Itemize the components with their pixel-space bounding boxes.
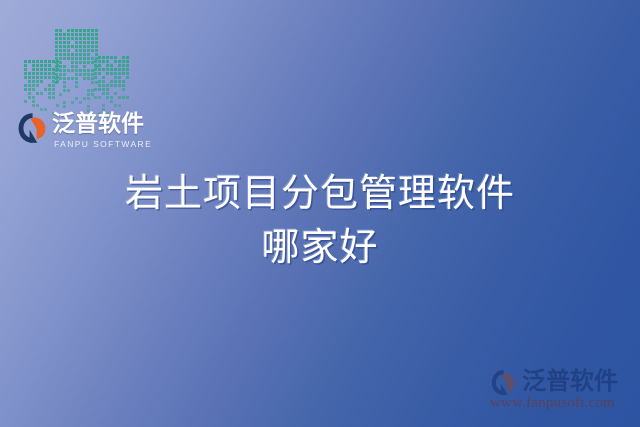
banner-image: 泛普软件 FANPU SOFTWARE 岩土项目分包管理软件 哪家好 泛普软件 … xyxy=(0,0,640,427)
page-title-line1: 岩土项目分包管理软件 xyxy=(0,166,640,220)
brand-logo: 泛普软件 FANPU SOFTWARE xyxy=(18,110,138,154)
fanpu-logo-mark xyxy=(18,112,48,144)
watermark-url: www.fanpusoft.com xyxy=(490,395,615,412)
page-title-line2: 哪家好 xyxy=(0,220,640,274)
page-title: 岩土项目分包管理软件 哪家好 xyxy=(0,166,640,274)
fanpu-watermark-mark xyxy=(490,369,518,396)
watermark-name-cn: 泛普软件 xyxy=(522,366,618,396)
brand-name-en: FANPU SOFTWARE xyxy=(54,139,152,149)
pixel-skyline-graphic xyxy=(24,26,124,116)
brand-name-cn: 泛普软件 xyxy=(52,110,144,138)
watermark: 泛普软件 www.fanpusoft.com xyxy=(488,365,634,415)
